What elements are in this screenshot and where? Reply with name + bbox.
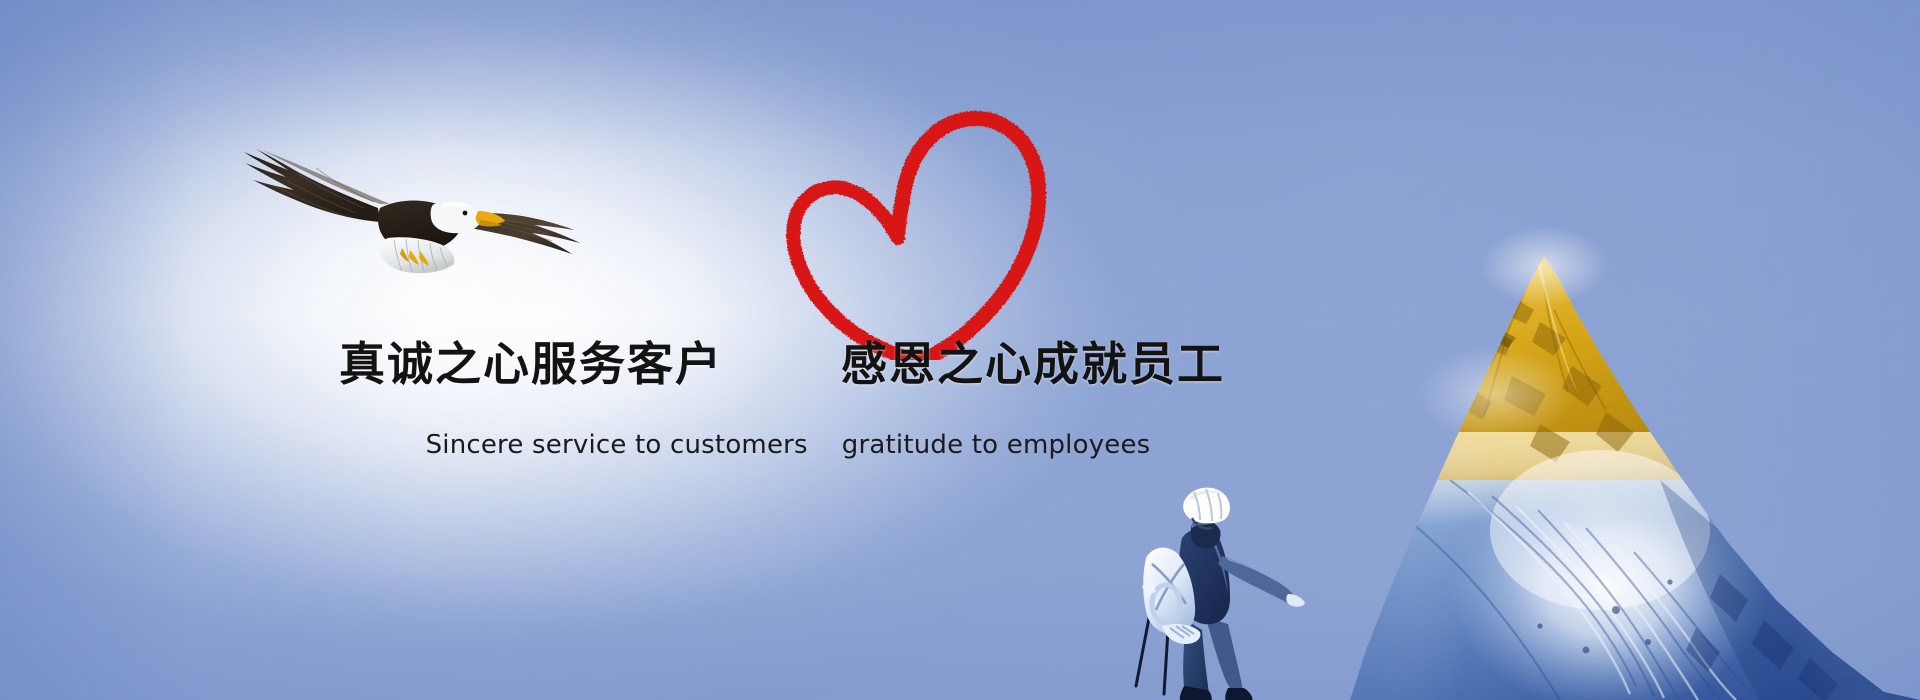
mountain-icon [1320, 240, 1920, 700]
summit-haze [1480, 226, 1608, 306]
helmet [1183, 488, 1230, 529]
mountain-scene [1020, 180, 1920, 700]
headline-left-chinese: 真诚之心服务客户 [339, 336, 723, 392]
climber-icon [1136, 488, 1305, 700]
subline-left-english: Sincere service to customers [426, 430, 808, 460]
boot-front [1225, 688, 1252, 700]
corporate-culture-banner: 真诚之心服务客户感恩之心成就员工 Sincere service to cust… [0, 0, 1920, 700]
eagle-icon [228, 112, 588, 277]
